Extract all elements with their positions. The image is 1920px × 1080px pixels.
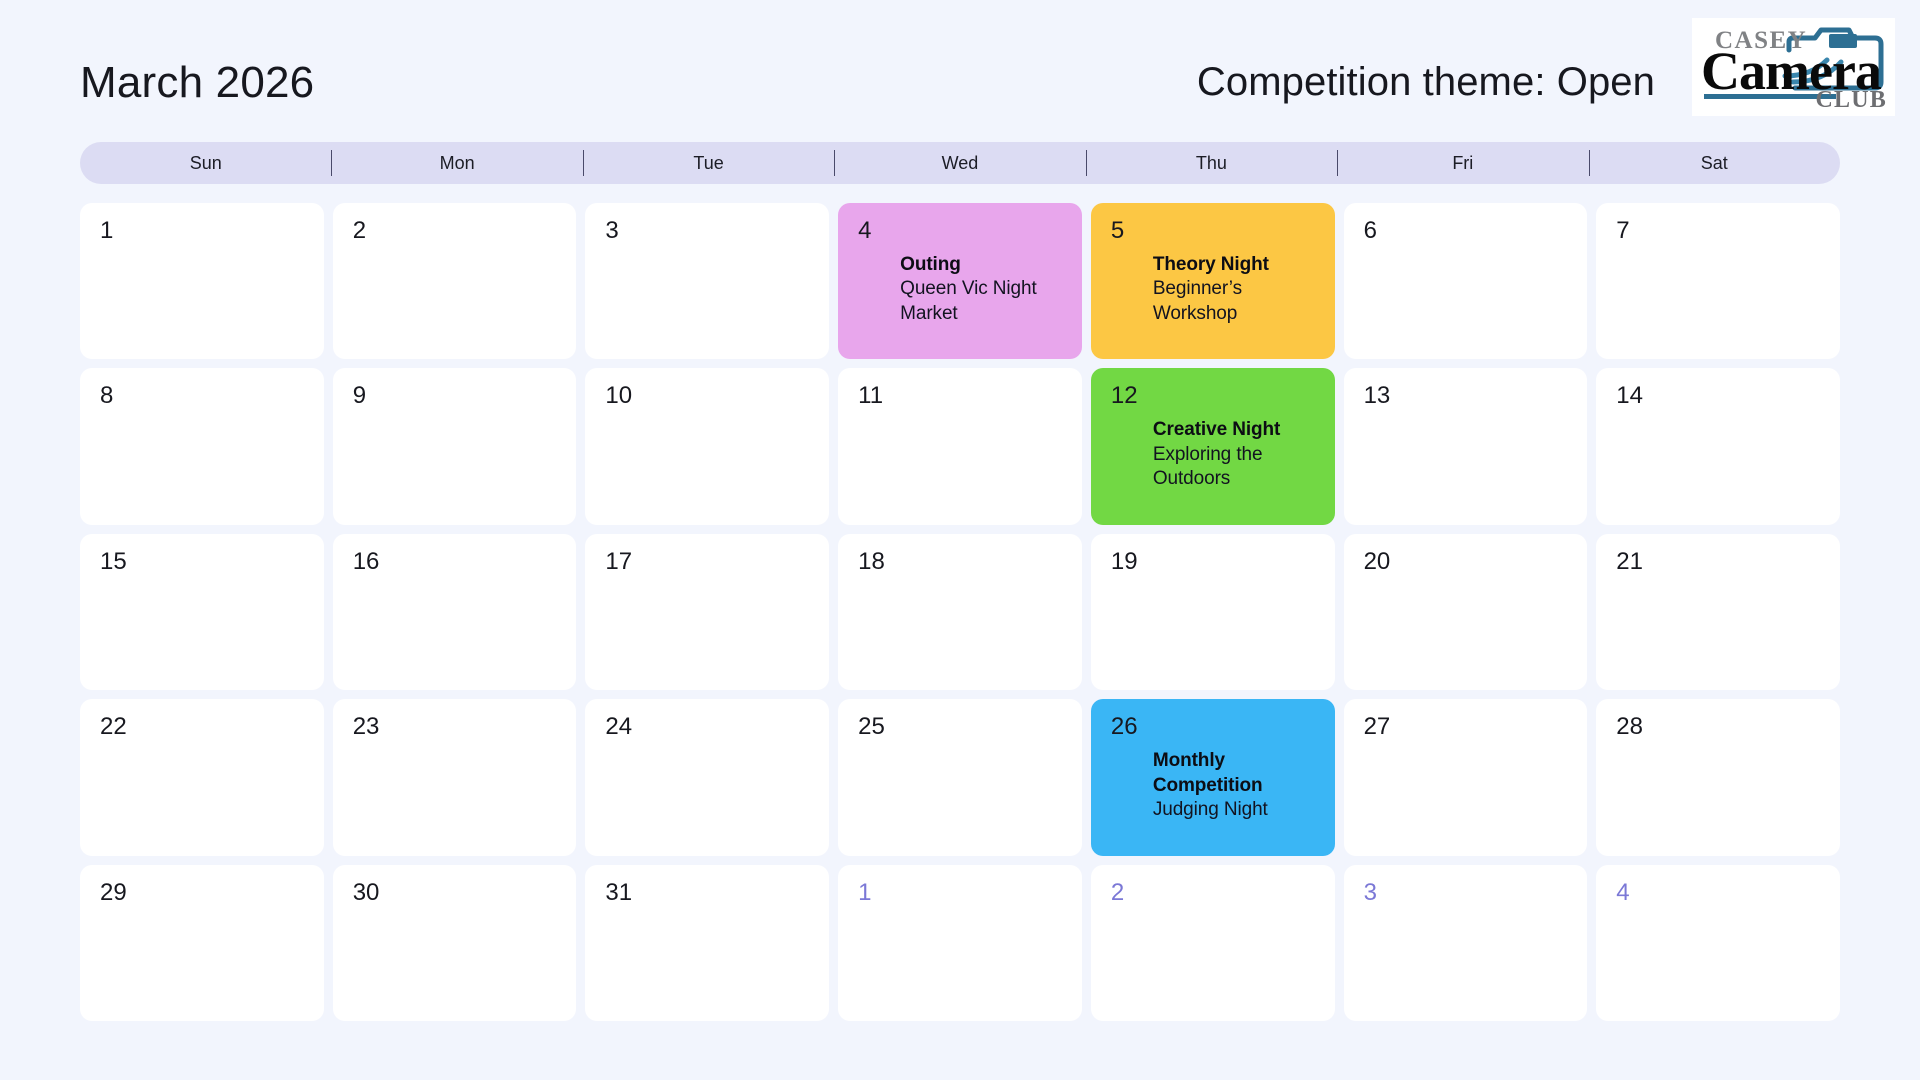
weekday-label: Thu	[1196, 153, 1227, 174]
event-subtitle: Queen Vic Night Market	[900, 277, 1070, 326]
day-cell[interactable]: 16	[333, 534, 577, 690]
day-number: 26	[1111, 715, 1138, 739]
event-title: Outing	[900, 253, 1070, 277]
event-title: Theory Night	[1153, 253, 1323, 277]
day-number: 3	[605, 219, 618, 243]
day-cell[interactable]: 22	[80, 699, 324, 855]
day-cell[interactable]: 15	[80, 534, 324, 690]
day-number: 25	[858, 715, 885, 739]
day-cell[interactable]: 27	[1344, 699, 1588, 855]
day-cell[interactable]: 28	[1596, 699, 1840, 855]
day-cell[interactable]: 18	[838, 534, 1082, 690]
day-cell[interactable]: 3	[585, 203, 829, 359]
day-number: 31	[605, 881, 632, 905]
event-title: Creative Night	[1153, 418, 1323, 442]
day-cell[interactable]: 25	[838, 699, 1082, 855]
day-number: 19	[1111, 550, 1138, 574]
day-cell[interactable]: 12Creative NightExploring the Outdoors	[1091, 368, 1335, 524]
event-entry[interactable]: Creative NightExploring the Outdoors	[1091, 418, 1323, 491]
day-number: 30	[353, 881, 380, 905]
event-subtitle: Exploring the Outdoors	[1153, 443, 1323, 492]
weekday-header-thu: Thu	[1086, 142, 1337, 184]
day-number: 24	[605, 715, 632, 739]
day-number: 17	[605, 550, 632, 574]
weekday-label: Tue	[693, 153, 723, 174]
weekday-header-sun: Sun	[80, 142, 331, 184]
page-title: March 2026	[80, 58, 314, 108]
day-number: 1	[100, 219, 113, 243]
event-subtitle: Judging Night	[1153, 798, 1323, 822]
day-cell[interactable]: 8	[80, 368, 324, 524]
club-logo: CASEY Camera CLUB	[1692, 18, 1895, 116]
day-number: 14	[1616, 384, 1643, 408]
day-number: 29	[100, 881, 127, 905]
day-cell[interactable]: 6	[1344, 203, 1588, 359]
weekday-header-sat: Sat	[1589, 142, 1840, 184]
day-cell[interactable]: 29	[80, 865, 324, 1021]
day-number: 1	[858, 881, 871, 905]
day-number: 15	[100, 550, 127, 574]
day-number: 7	[1616, 219, 1629, 243]
day-cell[interactable]: 20	[1344, 534, 1588, 690]
weekday-label: Fri	[1452, 153, 1473, 174]
event-subtitle: Beginner’s Workshop	[1153, 277, 1323, 326]
day-cell[interactable]: 30	[333, 865, 577, 1021]
day-number: 21	[1616, 550, 1643, 574]
day-cell[interactable]: 11	[838, 368, 1082, 524]
event-entry[interactable]: Theory NightBeginner’s Workshop	[1091, 253, 1323, 326]
day-number: 9	[353, 384, 366, 408]
day-number: 8	[100, 384, 113, 408]
weekday-label: Sat	[1701, 153, 1728, 174]
calendar-page: March 2026 Competition theme: Open CASEY…	[0, 0, 1920, 1080]
weekday-header-tue: Tue	[583, 142, 834, 184]
day-number: 18	[858, 550, 885, 574]
day-cell[interactable]: 31	[585, 865, 829, 1021]
day-number: 23	[353, 715, 380, 739]
day-cell[interactable]: 10	[585, 368, 829, 524]
day-number: 12	[1111, 384, 1138, 408]
weekday-header-row: SunMonTueWedThuFriSat	[80, 142, 1840, 184]
day-cell[interactable]: 7	[1596, 203, 1840, 359]
event-title: Monthly Competition	[1153, 749, 1323, 798]
weekday-label: Wed	[942, 153, 979, 174]
day-cell[interactable]: 14	[1596, 368, 1840, 524]
day-number: 16	[353, 550, 380, 574]
day-number: 13	[1364, 384, 1391, 408]
event-entry[interactable]: Monthly CompetitionJudging Night	[1091, 749, 1323, 822]
day-cell[interactable]: 24	[585, 699, 829, 855]
day-cell[interactable]: 26Monthly CompetitionJudging Night	[1091, 699, 1335, 855]
day-cell[interactable]: 1	[838, 865, 1082, 1021]
day-cell[interactable]: 19	[1091, 534, 1335, 690]
weekday-label: Mon	[440, 153, 475, 174]
day-cell[interactable]: 4OutingQueen Vic Night Market	[838, 203, 1082, 359]
event-entry[interactable]: OutingQueen Vic Night Market	[838, 253, 1070, 326]
weekday-label: Sun	[190, 153, 222, 174]
day-number: 27	[1364, 715, 1391, 739]
day-cell[interactable]: 23	[333, 699, 577, 855]
competition-theme-label: Competition theme: Open	[1197, 60, 1655, 105]
day-number: 6	[1364, 219, 1377, 243]
logo-club-text: CLUB	[1816, 87, 1887, 114]
weekday-header-wed: Wed	[834, 142, 1085, 184]
day-cell[interactable]: 4	[1596, 865, 1840, 1021]
day-cell[interactable]: 2	[1091, 865, 1335, 1021]
day-number: 22	[100, 715, 127, 739]
day-number: 3	[1364, 881, 1377, 905]
day-cell[interactable]: 5Theory NightBeginner’s Workshop	[1091, 203, 1335, 359]
day-number: 11	[858, 384, 883, 408]
day-cell[interactable]: 9	[333, 368, 577, 524]
day-cell[interactable]: 21	[1596, 534, 1840, 690]
day-cell[interactable]: 1	[80, 203, 324, 359]
day-number: 10	[605, 384, 632, 408]
day-cell[interactable]: 3	[1344, 865, 1588, 1021]
day-number: 2	[353, 219, 366, 243]
calendar-grid: 1234OutingQueen Vic Night Market5Theory …	[80, 203, 1840, 1021]
day-number: 28	[1616, 715, 1643, 739]
day-number: 4	[858, 219, 871, 243]
day-number: 5	[1111, 219, 1124, 243]
weekday-header-fri: Fri	[1337, 142, 1588, 184]
weekday-header-mon: Mon	[331, 142, 582, 184]
day-number: 2	[1111, 881, 1124, 905]
page-header: March 2026 Competition theme: Open CASEY…	[0, 0, 1920, 150]
day-number: 4	[1616, 881, 1629, 905]
day-cell[interactable]: 17	[585, 534, 829, 690]
day-cell[interactable]: 13	[1344, 368, 1588, 524]
day-number: 20	[1364, 550, 1391, 574]
day-cell[interactable]: 2	[333, 203, 577, 359]
